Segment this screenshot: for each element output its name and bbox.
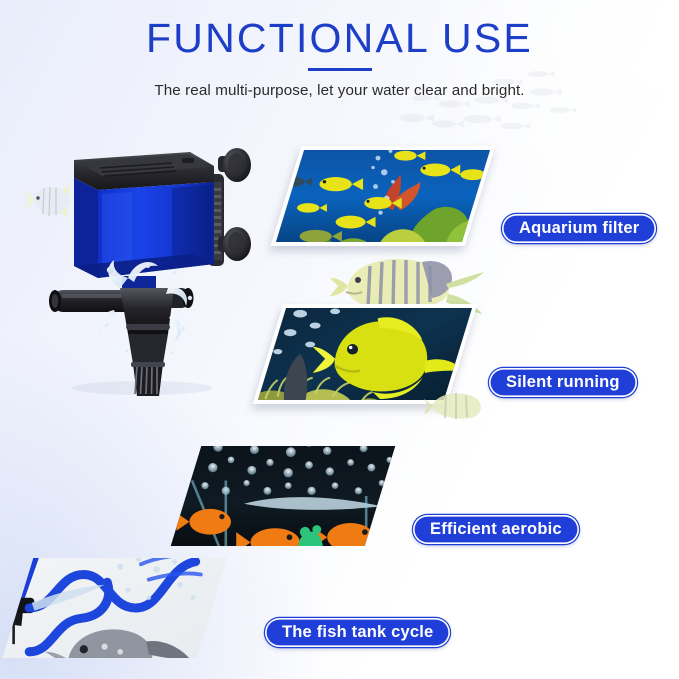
feature-photo-aquarium-filter <box>271 146 496 246</box>
page-subtitle: The real multi-purpose, let your water c… <box>0 82 679 99</box>
infographic-page: FUNCTIONAL USE The real multi-purpose, l… <box>0 0 679 679</box>
feature-photo-fish-tank-cycle <box>3 558 228 658</box>
header: FUNCTIONAL USE The real multi-purpose, l… <box>0 0 679 99</box>
feature-badge-fish-tank-cycle[interactable]: The fish tank cycle <box>265 618 450 647</box>
feature-photo-efficient-aerobic <box>171 446 396 546</box>
feature-badge-efficient-aerobic[interactable]: Efficient aerobic <box>413 515 579 544</box>
feature-badge-silent-running[interactable]: Silent running <box>489 368 637 397</box>
feature-photo-silent-running <box>253 304 478 404</box>
title-divider <box>308 68 372 71</box>
product-image-pump <box>22 138 272 400</box>
feature-badge-aquarium-filter[interactable]: Aquarium filter <box>502 214 656 243</box>
page-title: FUNCTIONAL USE <box>0 0 679 60</box>
